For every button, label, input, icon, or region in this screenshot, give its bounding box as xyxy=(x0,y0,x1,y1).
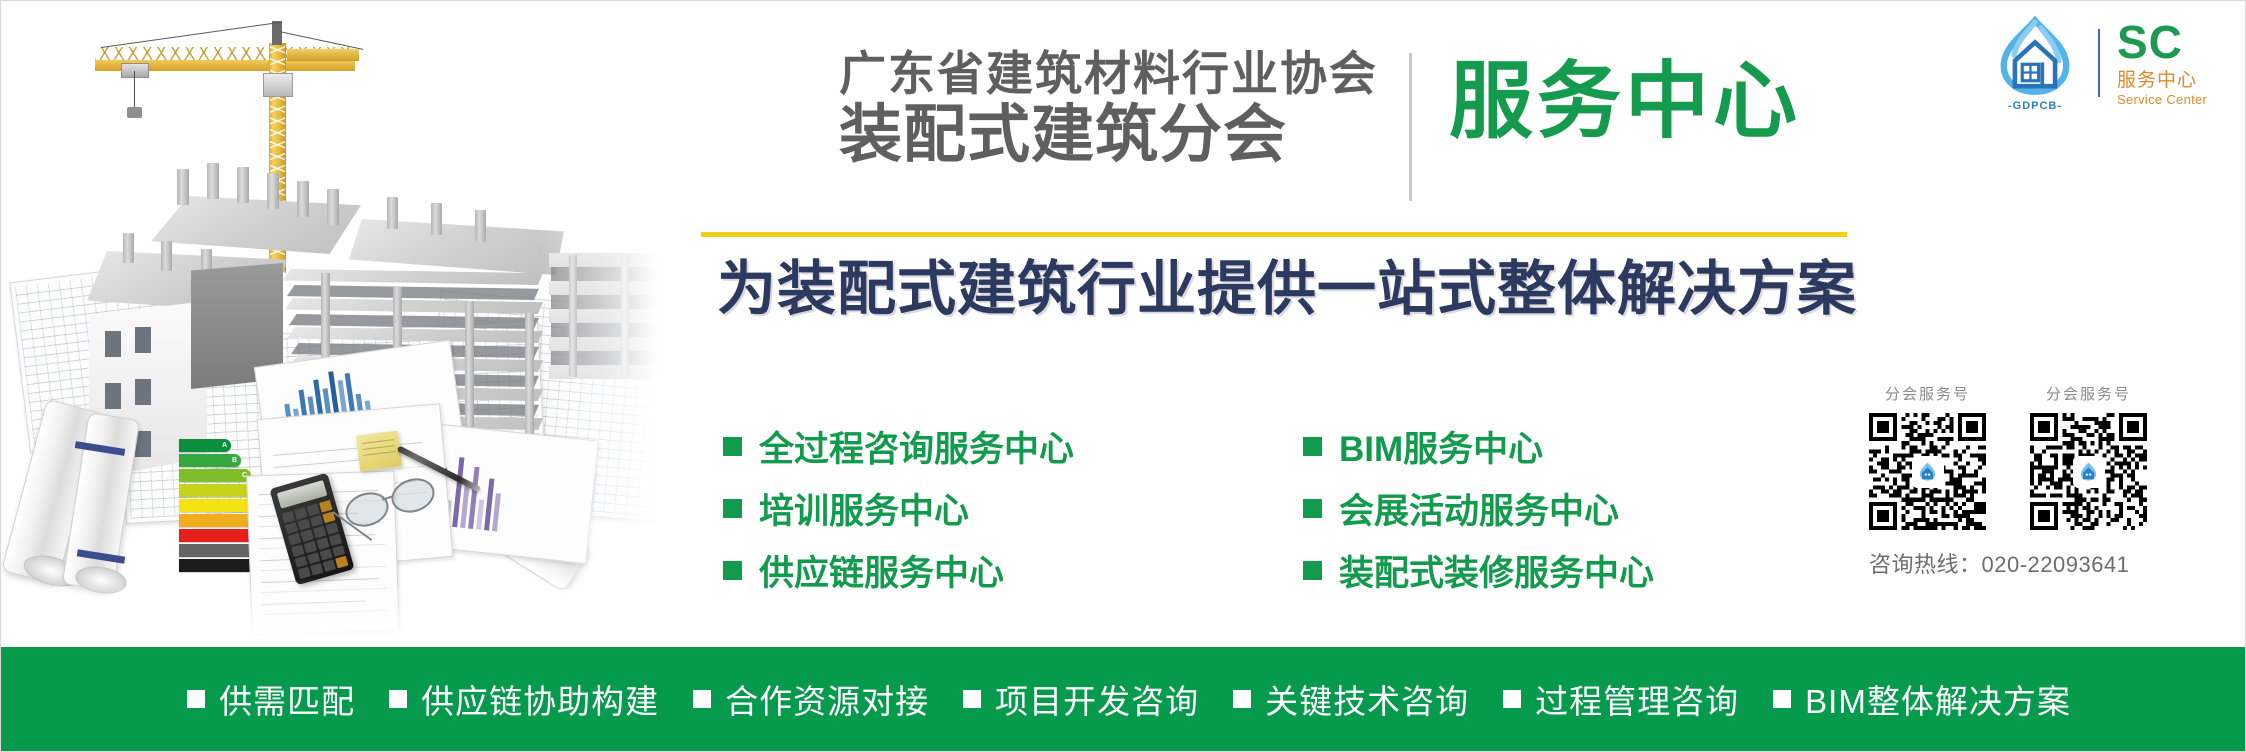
service-item-label: 全过程咨询服务中心 xyxy=(759,421,1074,472)
keyword-item[interactable]: 项目开发咨询 xyxy=(963,675,1199,723)
crane-operator-cab xyxy=(263,73,293,97)
gdpcb-house-icon xyxy=(2078,461,2100,483)
gdpcb-house-icon xyxy=(1917,461,1939,483)
energy-bar: C xyxy=(179,469,251,482)
crane-hook-block xyxy=(127,107,142,118)
keyword-item[interactable]: 供应链协助构建 xyxy=(389,675,659,723)
bullet-square-icon xyxy=(963,690,981,708)
association-name-block: 广东省建筑材料行业协会 装配式建筑分会 xyxy=(839,49,1389,168)
bullet-square-icon xyxy=(723,561,742,580)
roof-column xyxy=(327,189,339,225)
gdpcb-logo-mark: -GDPCB- xyxy=(1989,15,2081,111)
keyword-item[interactable]: 过程管理咨询 xyxy=(1503,675,1739,723)
service-list-right: BIM服务中心 会展活动服务中心 装配式装修服务中心 xyxy=(1303,415,1654,601)
roof-column xyxy=(387,197,398,229)
keyword-label: 关键技术咨询 xyxy=(1265,675,1469,723)
energy-bar: A xyxy=(179,439,231,452)
service-item[interactable]: 供应链服务中心 xyxy=(723,539,1074,601)
energy-bar: B xyxy=(179,454,241,467)
banner-subtitle: 为装配式建筑行业提供一站式整体解决方案 xyxy=(717,257,1857,322)
roof-column xyxy=(161,241,172,271)
keyword-item[interactable]: 供需匹配 xyxy=(187,675,355,723)
crane-counter-jib xyxy=(287,49,359,61)
keyword-item[interactable]: BIM整体解决方案 xyxy=(1773,675,2071,723)
qr-code-row: 分会服务号 分会服务号 xyxy=(1869,383,2221,530)
sc-english-label: Service Center xyxy=(2117,92,2207,107)
association-name-line1: 广东省建筑材料行业协会 xyxy=(839,49,1389,100)
window xyxy=(135,327,151,353)
roof-column xyxy=(297,181,309,217)
title-vertical-divider xyxy=(1409,53,1412,201)
service-item[interactable]: 全过程咨询服务中心 xyxy=(723,415,1074,477)
service-list-left: 全过程咨询服务中心 培训服务中心 供应链服务中心 xyxy=(723,415,1074,601)
service-item-label: 装配式装修服务中心 xyxy=(1339,545,1654,596)
bullet-square-icon xyxy=(389,690,407,708)
qr-center-logo xyxy=(2074,457,2103,486)
service-item[interactable]: BIM服务中心 xyxy=(1303,415,1654,477)
keyword-label: BIM整体解决方案 xyxy=(1805,675,2071,723)
bullet-square-icon xyxy=(1503,690,1521,708)
window xyxy=(135,379,151,405)
bottom-keyword-list: 供需匹配 供应链协助构建 合作资源对接 项目开发咨询 关键技术咨询 过程管理咨询 xyxy=(175,675,2071,723)
qr-caption: 分会服务号 xyxy=(2030,383,2147,404)
structural-column xyxy=(525,313,534,453)
service-center-heading: 服务中心 xyxy=(1449,59,1801,143)
roof-column xyxy=(237,167,249,203)
keyword-label: 过程管理咨询 xyxy=(1535,675,1739,723)
sc-chinese-label: 服务中心 xyxy=(2117,65,2207,92)
roof-column xyxy=(475,210,486,242)
qr-code-image-1[interactable] xyxy=(1869,413,1986,530)
service-item-label: 培训服务中心 xyxy=(759,483,969,534)
qr-code-block-1: 分会服务号 xyxy=(1869,383,1986,530)
roof-column xyxy=(177,169,189,205)
roof-slab-right-wing xyxy=(349,219,564,275)
keyword-item[interactable]: 合作资源对接 xyxy=(693,675,929,723)
crane-cable-front xyxy=(101,22,279,48)
crane-trolley xyxy=(121,63,149,78)
bullet-square-icon xyxy=(723,437,742,456)
qr-contact-area: 分会服务号 分会服务号 xyxy=(1869,383,2221,579)
bullet-square-icon xyxy=(1303,561,1322,580)
gdpcb-caption: -GDPCB- xyxy=(1989,100,2081,112)
gdpcb-house-flame-icon xyxy=(1989,15,2081,99)
qr-center-logo xyxy=(1913,457,1942,486)
bullet-square-icon xyxy=(723,499,742,518)
keyword-label: 供需匹配 xyxy=(219,675,355,723)
construction-hero-image: A B C D E F G H I xyxy=(1,1,691,649)
bullet-square-icon xyxy=(1233,690,1251,708)
hero-bottom-fade xyxy=(1,579,691,649)
keyword-item[interactable]: 关键技术咨询 xyxy=(1233,675,1469,723)
qr-code-block-2: 分会服务号 xyxy=(2030,383,2147,530)
hotline-text: 咨询热线：020-22093641 xyxy=(1869,547,2221,579)
association-name-line2: 装配式建筑分会 xyxy=(839,102,1389,168)
logo-divider xyxy=(2098,29,2100,97)
keyword-label: 合作资源对接 xyxy=(725,675,929,723)
promo-banner: A B C D E F G H I xyxy=(0,0,2246,752)
roof-column xyxy=(267,173,279,209)
keyword-label: 项目开发咨询 xyxy=(995,675,1199,723)
crane-apex xyxy=(272,21,282,45)
service-item[interactable]: 会展活动服务中心 xyxy=(1303,477,1654,539)
calculator-keypad xyxy=(282,500,349,579)
roof-column xyxy=(123,233,134,263)
service-item[interactable]: 装配式装修服务中心 xyxy=(1303,539,1654,601)
service-item-label: BIM服务中心 xyxy=(1339,421,1543,472)
bullet-square-icon xyxy=(693,690,711,708)
sc-abbrev: SC xyxy=(2117,21,2207,63)
brand-logo-area: -GDPCB- SC 服务中心 Service Center xyxy=(1989,15,2207,111)
yellow-horizontal-rule xyxy=(701,232,1847,237)
hero-illustration: A B C D E F G H I xyxy=(1,1,691,649)
sc-logo-block: SC 服务中心 Service Center xyxy=(2117,19,2207,106)
service-item[interactable]: 培训服务中心 xyxy=(723,477,1074,539)
bottom-keyword-bar: 供需匹配 供应链协助构建 合作资源对接 项目开发咨询 关键技术咨询 过程管理咨询 xyxy=(1,647,2245,751)
crane-hoist-line xyxy=(134,71,135,109)
sticky-note xyxy=(356,431,402,472)
bullet-square-icon xyxy=(1773,690,1791,708)
service-item-label: 供应链服务中心 xyxy=(759,545,1004,596)
bullet-square-icon xyxy=(187,690,205,708)
hero-right-fade xyxy=(541,1,691,649)
bullet-square-icon xyxy=(1303,437,1322,456)
roof-column xyxy=(431,203,442,235)
window xyxy=(105,383,121,409)
service-item-label: 会展活动服务中心 xyxy=(1339,483,1619,534)
structural-column xyxy=(465,301,474,447)
qr-caption: 分会服务号 xyxy=(1869,383,1986,404)
window xyxy=(105,331,121,357)
keyword-label: 供应链协助构建 xyxy=(421,675,659,723)
qr-code-image-2[interactable] xyxy=(2030,413,2147,530)
bullet-square-icon xyxy=(1303,499,1322,518)
roof-column xyxy=(207,163,219,199)
